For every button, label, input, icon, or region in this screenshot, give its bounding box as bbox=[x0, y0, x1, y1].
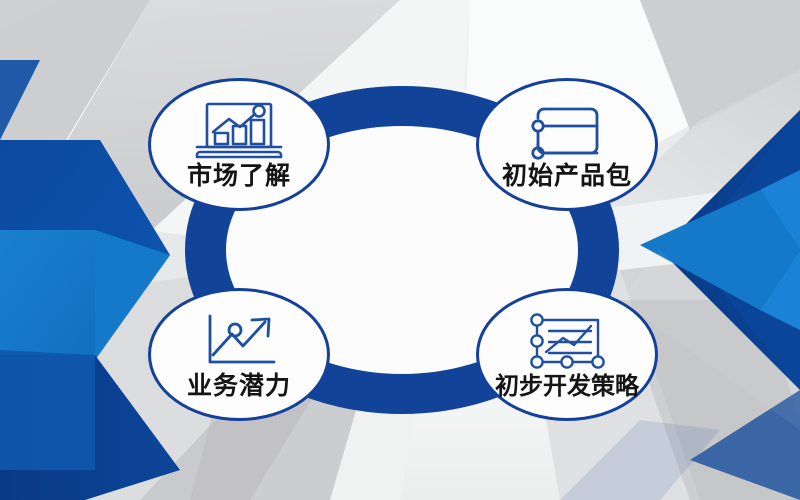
node-label: 初步开发策略 bbox=[495, 375, 639, 399]
center-ring-layer bbox=[0, 0, 800, 500]
node-label: 市场了解 bbox=[187, 164, 291, 189]
node-business-potential[interactable]: 业务潜力 bbox=[148, 288, 330, 421]
node-label: 初始产品包 bbox=[502, 164, 632, 189]
node-initial-product-package[interactable]: 初始产品包 bbox=[476, 78, 658, 211]
product-package-box-icon bbox=[519, 100, 615, 162]
growth-arrow-chart-icon bbox=[191, 310, 287, 372]
infographic-canvas: 市场了解 初始产品包 业务潜力 bbox=[0, 0, 800, 500]
node-market-understanding[interactable]: 市场了解 bbox=[148, 78, 330, 211]
strategy-node-chart-icon bbox=[519, 311, 615, 373]
node-label: 业务潜力 bbox=[187, 374, 291, 399]
node-preliminary-dev-strategy[interactable]: 初步开发策略 bbox=[476, 288, 658, 421]
laptop-bar-chart-icon bbox=[191, 100, 287, 162]
